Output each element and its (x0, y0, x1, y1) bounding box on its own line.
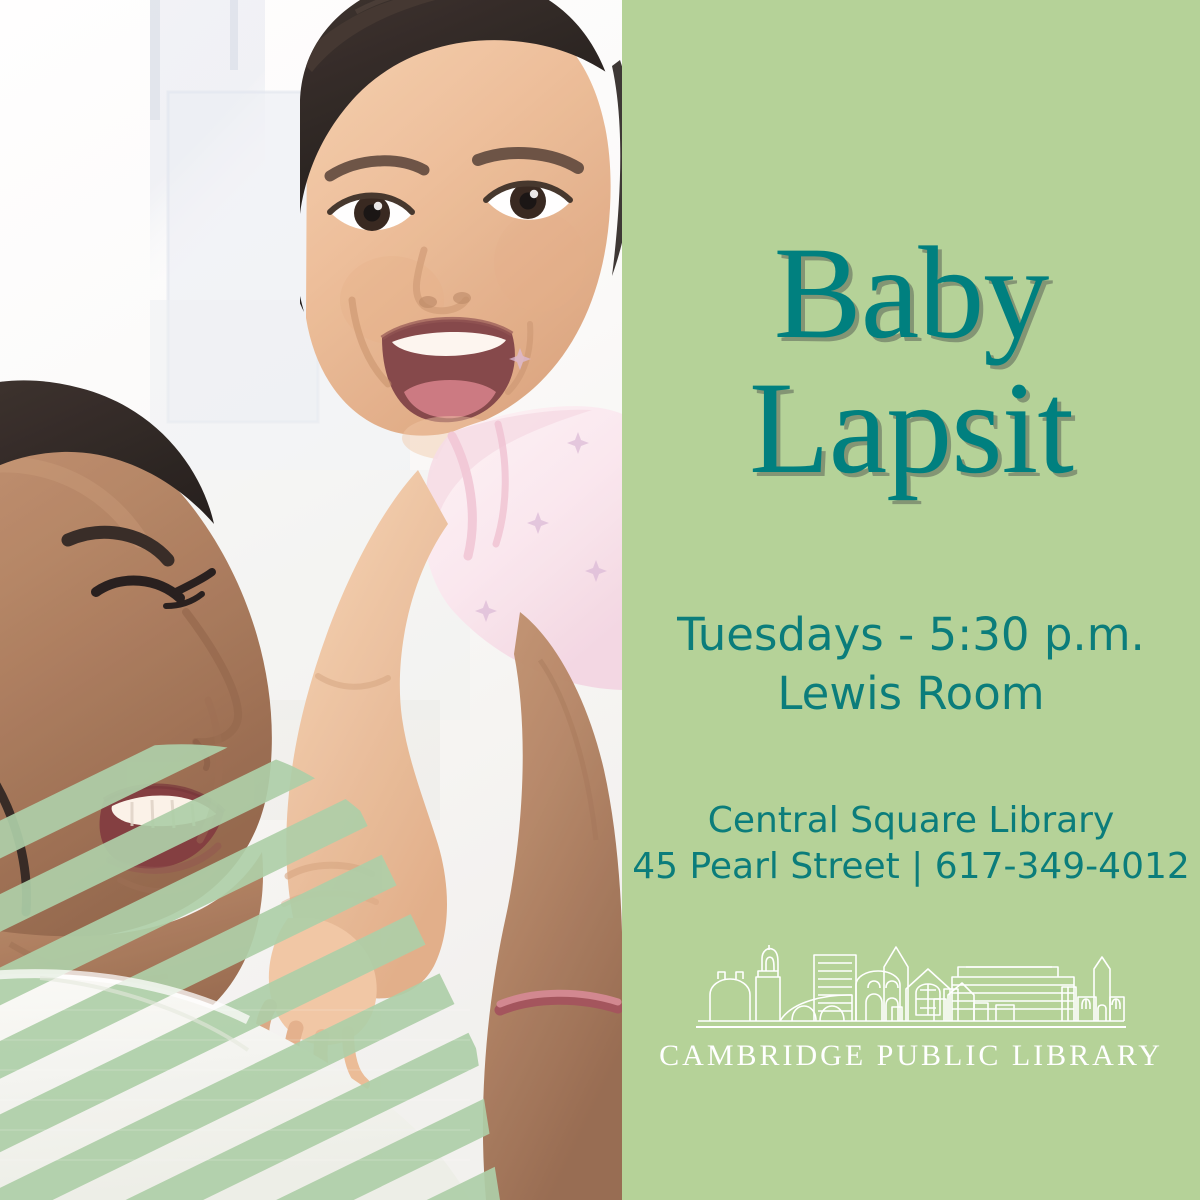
address-block: Central Square Library 45 Pearl Street |… (622, 798, 1200, 892)
logo-divider-rule (696, 1026, 1126, 1028)
cambridge-skyline-icon (696, 943, 1126, 1025)
logo-wordmark: CAMBRIDGE PUBLIC LIBRARY (659, 1039, 1163, 1073)
title-line-2: Lapsit (622, 363, 1200, 492)
address-branch-name: Central Square Library (622, 798, 1200, 845)
schedule-day-time: Tuesdays - 5:30 p.m. (622, 605, 1200, 664)
title-line-1: Baby (622, 228, 1200, 357)
photo-illustration (0, 0, 622, 1200)
address-street-phone: 45 Pearl Street | 617-349-4012 (622, 844, 1200, 891)
library-logo: CAMBRIDGE PUBLIC LIBRARY (622, 943, 1200, 1073)
poster-title: Baby Lapsit (622, 228, 1200, 493)
schedule-block: Tuesdays - 5:30 p.m. Lewis Room (622, 605, 1200, 724)
poster: Baby Lapsit Tuesdays - 5:30 p.m. Lewis R… (0, 0, 1200, 1200)
info-panel: Baby Lapsit Tuesdays - 5:30 p.m. Lewis R… (622, 0, 1200, 1200)
photo-mother-and-baby (0, 0, 622, 1200)
schedule-room: Lewis Room (622, 664, 1200, 723)
